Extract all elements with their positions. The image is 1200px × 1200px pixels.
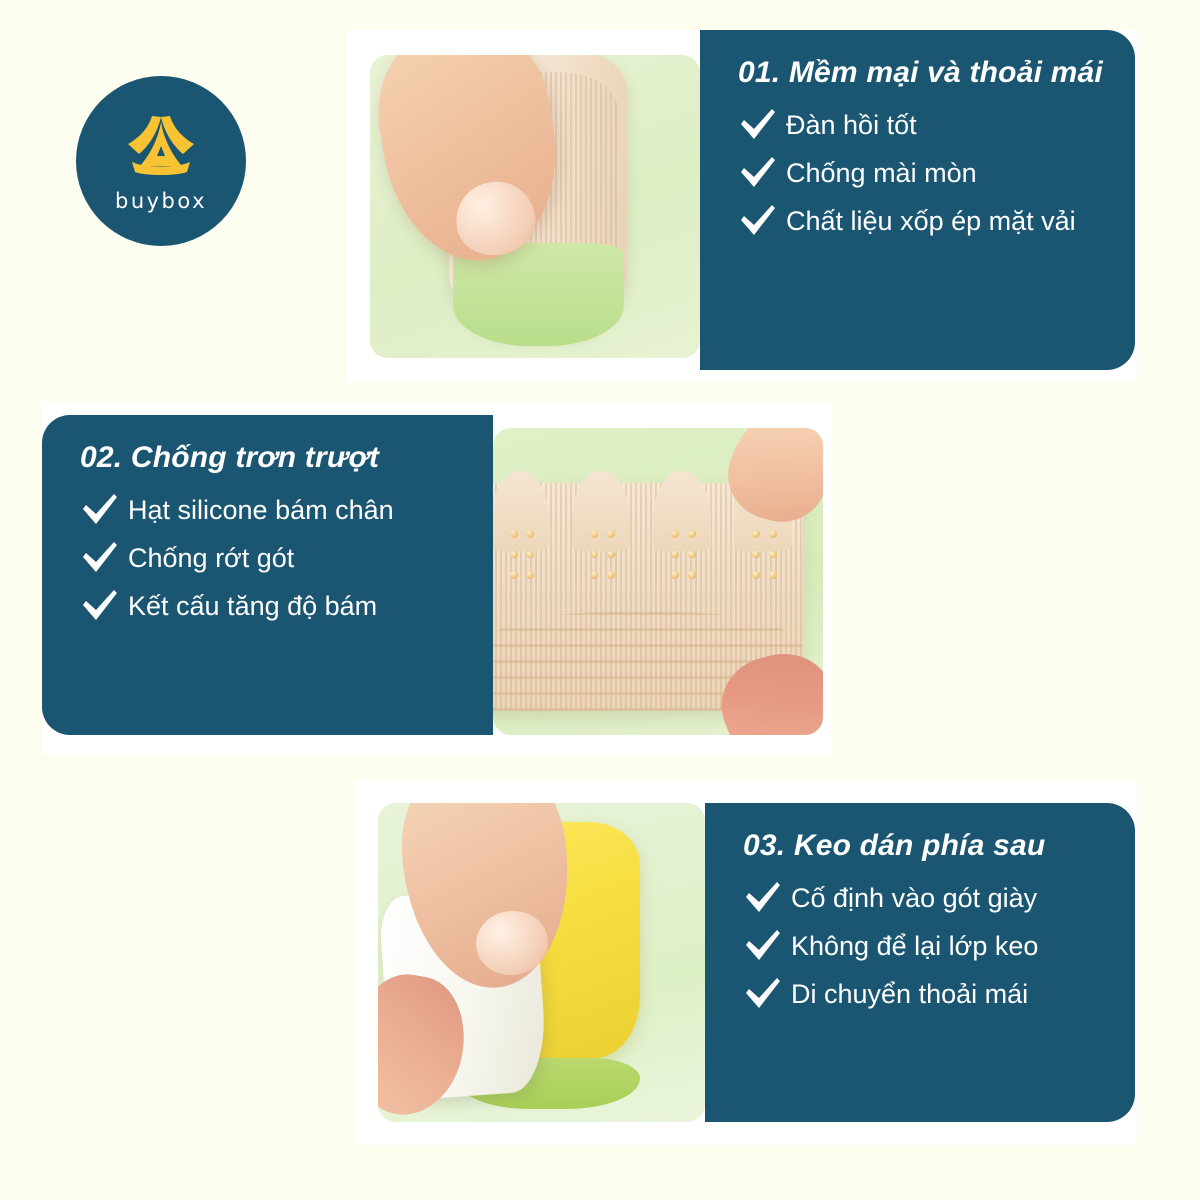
panel-02-text-block: 02. Chống trơn trượt Hạt silicone bám ch…: [42, 415, 493, 735]
list-item: Kết cấu tăng độ bám: [80, 589, 477, 623]
panel-01-text-block: 01. Mềm mại và thoải mái Đàn hồi tốt Chố…: [700, 30, 1135, 370]
bullet-label: Cố định vào gót giày: [791, 882, 1037, 914]
check-icon: [738, 108, 778, 142]
buybox-triangle-logo-icon: [118, 114, 204, 178]
bullet-label: Chống mài mòn: [786, 157, 977, 189]
list-item: Di chuyển thoải mái: [743, 977, 1119, 1011]
list-item: Đàn hồi tốt: [738, 108, 1119, 142]
check-icon: [738, 204, 778, 238]
panel-03-text-block: 03. Keo dán phía sau Cố định vào gót già…: [705, 803, 1135, 1122]
check-icon: [80, 589, 120, 623]
check-icon: [743, 929, 783, 963]
check-icon: [738, 156, 778, 190]
bullet-label: Hạt silicone bám chân: [128, 494, 394, 526]
panel-02-photo: [493, 428, 823, 735]
panel-02-title: 02. Chống trơn trượt: [80, 441, 477, 475]
check-icon: [743, 977, 783, 1011]
bullet-label: Chống rớt gót: [128, 542, 294, 574]
list-item: Hạt silicone bám chân: [80, 493, 477, 527]
list-item: Chất liệu xốp ép mặt vải: [738, 204, 1119, 238]
panel-03-bullet-list: Cố định vào gót giày Không để lại lớp ke…: [743, 881, 1119, 1011]
bullet-label: Kết cấu tăng độ bám: [128, 590, 377, 622]
check-icon: [80, 541, 120, 575]
check-icon: [743, 881, 783, 915]
check-icon: [80, 493, 120, 527]
list-item: Chống mài mòn: [738, 156, 1119, 190]
panel-03-title: 03. Keo dán phía sau: [743, 829, 1119, 863]
list-item: Cố định vào gót giày: [743, 881, 1119, 915]
list-item: Không để lại lớp keo: [743, 929, 1119, 963]
panel-01-bullet-list: Đàn hồi tốt Chống mài mòn Chất liệu xốp …: [738, 108, 1119, 238]
bullet-label: Không để lại lớp keo: [791, 930, 1038, 962]
bullet-label: Chất liệu xốp ép mặt vải: [786, 205, 1076, 237]
panel-01-photo: [370, 55, 700, 358]
panel-01-title: 01. Mềm mại và thoải mái: [738, 56, 1119, 90]
bullet-label: Đàn hồi tốt: [786, 109, 917, 141]
list-item: Chống rớt gót: [80, 541, 477, 575]
panel-03-photo: [378, 803, 705, 1122]
panel-02-bullet-list: Hạt silicone bám chân Chống rớt gót Kết …: [80, 493, 477, 623]
bullet-label: Di chuyển thoải mái: [791, 978, 1028, 1010]
brand-logo: buybox: [76, 76, 246, 246]
brand-name: buybox: [115, 189, 207, 213]
